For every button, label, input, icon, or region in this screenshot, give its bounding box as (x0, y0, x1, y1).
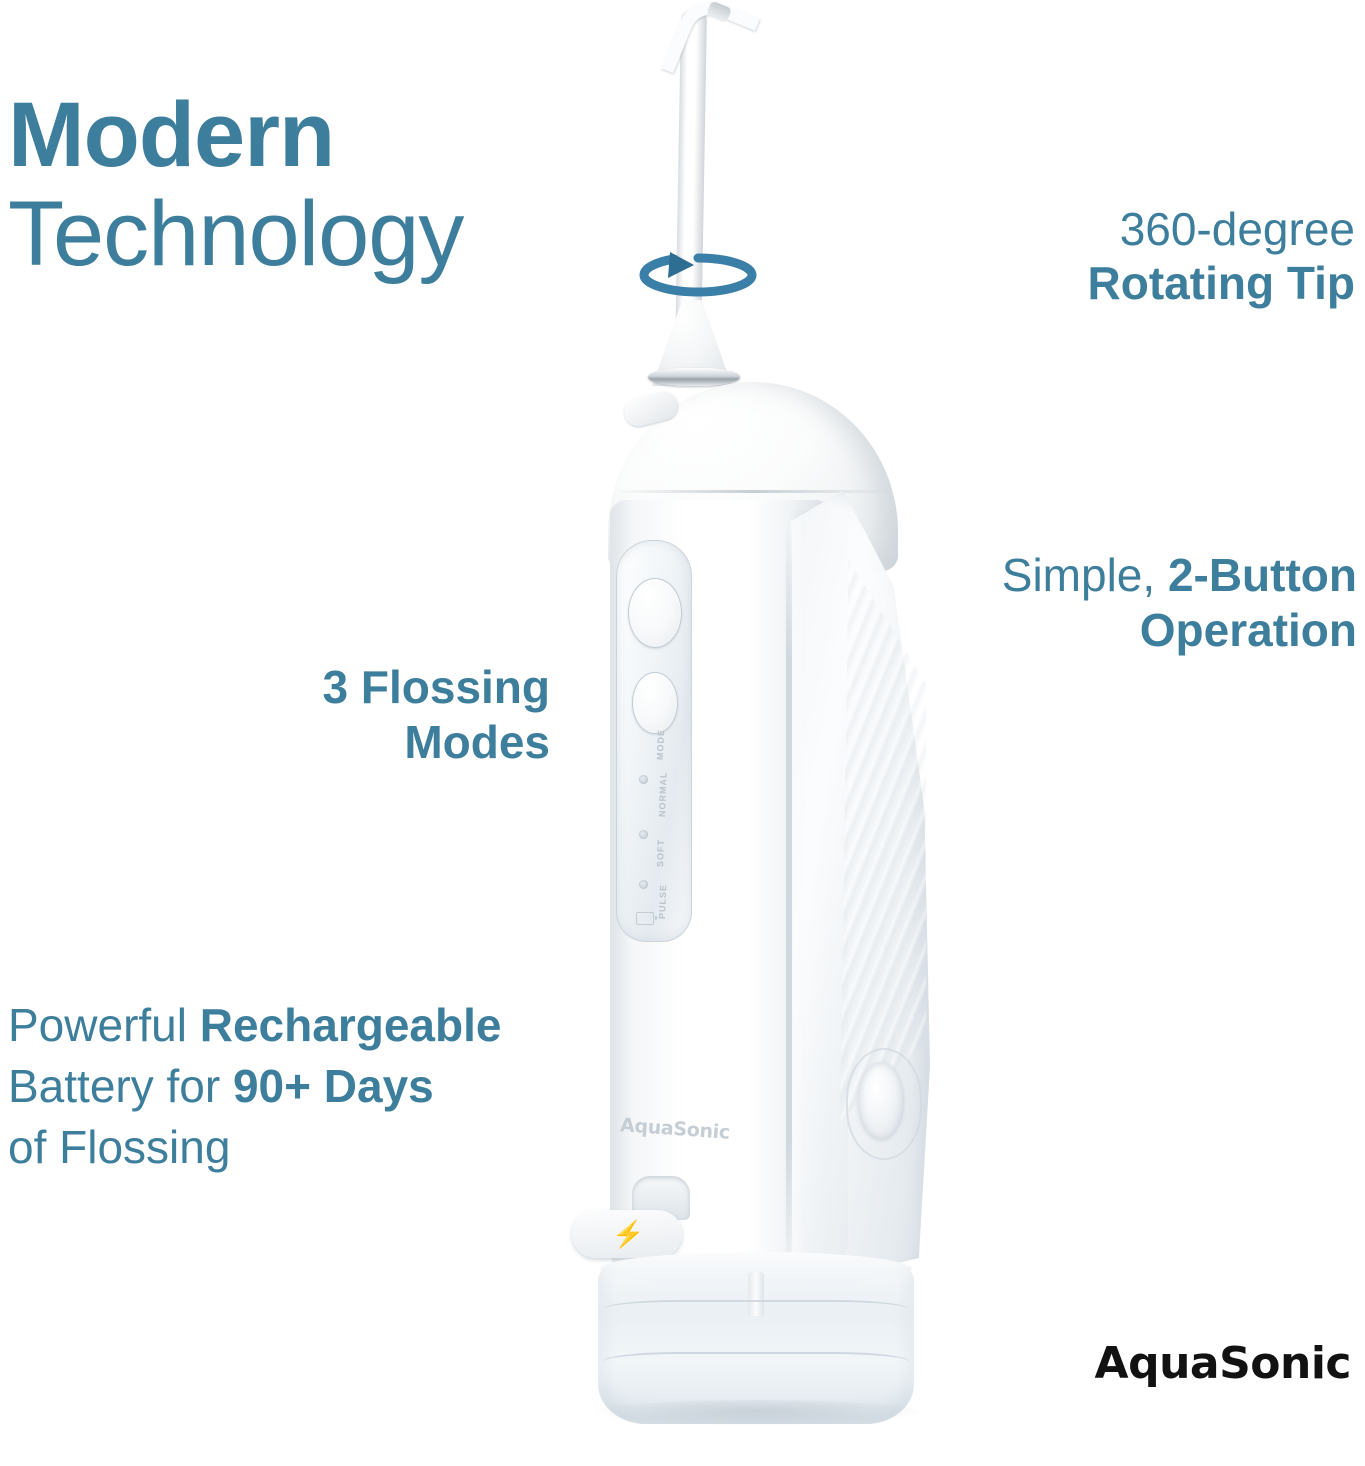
panel-label-pulse: PULSE (657, 884, 668, 919)
callout-battery-light-1: Powerful (8, 999, 200, 1051)
callout-battery-light-2: Battery for (8, 1060, 233, 1112)
callout-battery-line-3: of Flossing (8, 1117, 628, 1178)
led-pulse-indicator (639, 880, 648, 889)
panel-label-mode: MODE (655, 729, 666, 760)
panel-label-soft: SOFT (655, 839, 666, 867)
callout-two-button-bold-1: 2-Button (1168, 549, 1357, 601)
callout-two-button-light: Simple, (1002, 549, 1168, 601)
water-reservoir-texture (840, 560, 926, 1120)
panel-label-normal: NORMAL (657, 771, 669, 817)
callout-flossing-modes: 3 Flossing Modes (190, 660, 550, 770)
lightning-bolt-icon: ⚡ (612, 1220, 644, 1248)
headline-line-1: Modern (8, 86, 628, 185)
led-soft-indicator (639, 830, 648, 839)
infographic-canvas: Modern Technology 360-degree Rotating Ti… (0, 0, 1365, 1466)
product-drop-shadow (592, 1400, 922, 1426)
rotation-arrow-icon (636, 252, 760, 298)
callout-flossing-modes-line-1: 3 Flossing (190, 660, 550, 715)
headline-line-2: Technology (8, 185, 628, 284)
head-seam (612, 490, 894, 493)
page-title: Modern Technology (8, 86, 628, 285)
callout-battery-bold-1: Rechargeable (200, 999, 502, 1051)
callout-battery: Powerful Rechargeable Battery for 90+ Da… (8, 995, 628, 1179)
callout-battery-line-2: Battery for 90+ Days (8, 1056, 628, 1117)
product-image-water-flosser: MODE NORMAL SOFT PULSE AquaSonic ⚡ (540, 0, 960, 1430)
callout-flossing-modes-line-2: Modes (190, 715, 550, 770)
callout-battery-bold-2: 90+ Days (233, 1060, 434, 1112)
tank-release-button[interactable] (858, 1062, 904, 1140)
callout-battery-line-1: Powerful Rechargeable (8, 995, 628, 1056)
base-ring-lower (602, 1352, 910, 1372)
base-ring-upper (604, 1300, 908, 1318)
power-button[interactable] (628, 578, 682, 648)
brand-logo: AquaSonic (1095, 1338, 1351, 1389)
nozzle-collar (648, 368, 740, 386)
led-normal-indicator (639, 775, 648, 784)
mode-button[interactable] (632, 672, 678, 734)
water-reservoir-edge (786, 520, 792, 1280)
battery-icon (636, 912, 654, 925)
